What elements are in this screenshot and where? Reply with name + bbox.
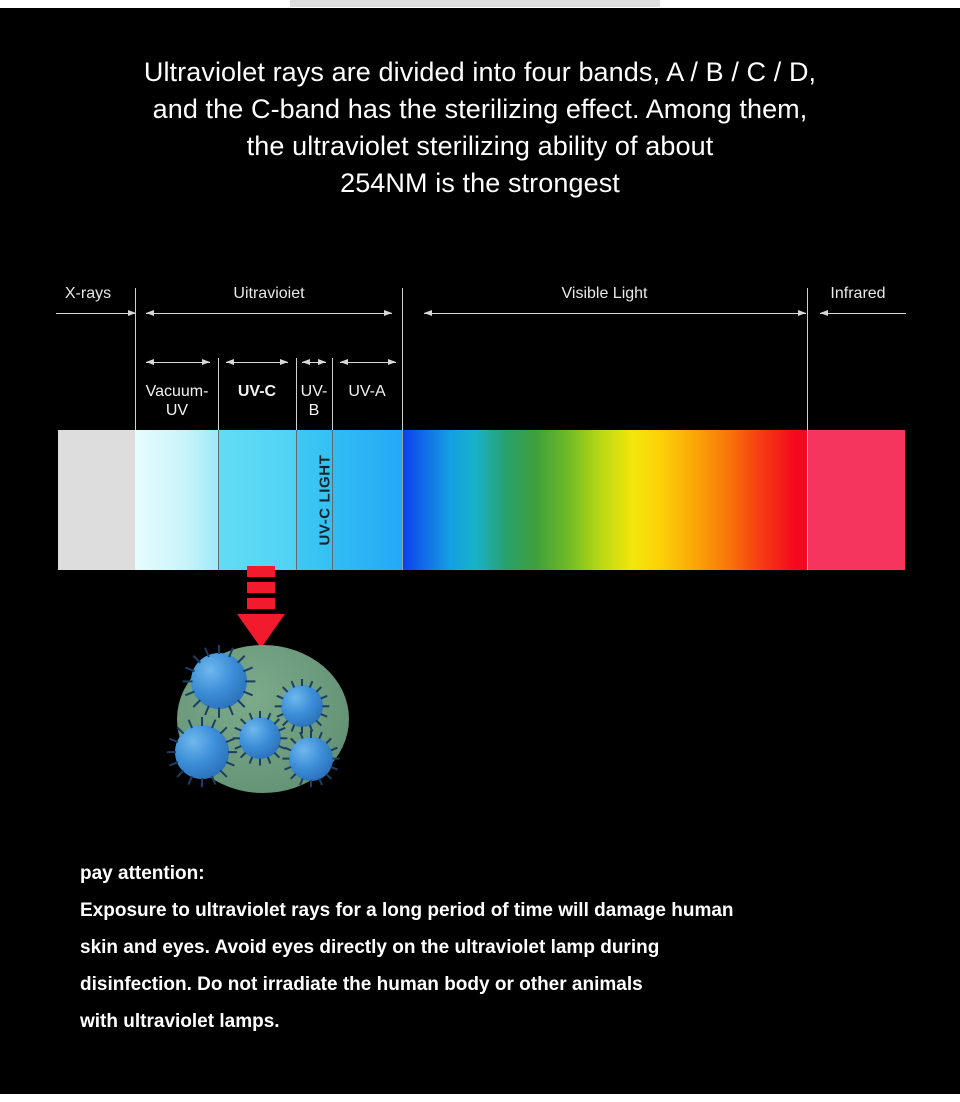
virus-spike-icon [318,732,323,740]
virus-spike-icon [267,712,272,719]
measure-arrow-uvb [302,362,326,363]
band-label-vacuum-uv-line1: Vacuum- [146,383,209,400]
arrow-head-left-icon [146,310,154,316]
virus-spike-icon [226,738,235,743]
virus-spike-icon [330,747,338,752]
caution-note: pay attention: Exposure to ultraviolet r… [80,855,920,1040]
virus-spike-icon [320,713,327,718]
virus-spike-icon [169,738,178,743]
virus-spike-icon [299,778,304,786]
caution-line-1: pay attention: [80,855,920,892]
arrow-head-left-icon [146,359,154,365]
arrow-segment-2 [247,582,275,593]
page-title: Ultraviolet rays are divided into four b… [0,54,960,202]
virus-spike-icon [211,719,216,728]
virus-spike-icon [310,780,312,787]
measure-arrow-uvc [226,362,288,363]
virus-spike-icon [301,679,303,686]
measure-arrow-visible-light [424,313,806,314]
arrow-head-right-icon [388,359,396,365]
virus-spike-icon [332,758,339,760]
arrow-head-left-icon [424,310,432,316]
virus-particle [281,685,323,727]
virus-spike-icon [228,751,237,753]
band-label-uvc: UV-C [218,382,296,401]
virus-spike-icon [176,726,184,734]
virus-spike-icon [240,752,246,758]
virus-spike-icon [291,680,296,687]
virus-spike-icon [243,666,253,671]
band-label-vacuum-uv: Vacuum- UV [136,382,218,420]
measure-arrow-infrared [820,313,906,314]
virus-spike-icon [309,680,314,687]
virus-spike-icon [290,738,297,745]
virus-spike-icon [249,756,254,763]
virus-spike-icon [218,645,220,655]
virus-spike-icon [201,717,203,726]
caution-line-5: with ultraviolet lamps. [80,1003,920,1040]
virus-spike-icon [243,690,253,695]
virus-spike-icon [204,705,209,715]
virus-spike-icon [226,761,235,766]
caution-line-2: Exposure to ultraviolet rays for a long … [80,892,920,929]
virus-spike-icon [290,773,297,780]
virus-spike-icon [282,720,288,726]
divider-uv-visible [402,288,403,430]
virus-spike-icon [220,726,228,734]
virus-spike-icon [188,719,193,728]
virus-spike-icon [280,737,287,739]
virus-spike-icon [282,758,289,760]
band-label-uvb-line1: UV- [301,383,328,400]
band-label-uva: UV-A [332,382,402,401]
virus-spike-icon [320,695,327,700]
range-label-visible-light: Visible Light [402,285,807,303]
virus-spike-icon [291,724,296,731]
arrow-head-left-icon [340,359,348,365]
virus-spike-icon [284,766,292,771]
virus-spike-icon [276,695,283,700]
virus-spike-icon [322,705,329,707]
virus-spike-icon [316,720,322,726]
measure-arrow-ultraviolet [146,313,392,314]
virus-particle [175,725,229,779]
virus-spike-icon [234,727,241,732]
germ-petri-dish-illustration [177,645,349,793]
arrow-head-left-icon [302,359,310,365]
arrow-head-right-icon [798,310,806,316]
virus-spike-icon [325,738,332,745]
virus-spike-icon [169,761,178,766]
virus-spike-icon [330,766,338,771]
virus-spike-icon [259,711,261,718]
arrow-segment-3 [247,598,275,609]
caution-line-3: skin and eyes. Avoid eyes directly on th… [80,929,920,966]
virus-spike-icon [267,756,272,763]
virus-spike-icon [211,776,216,785]
spectrum-segment-visible-light [402,430,807,570]
measure-arrow-xrays [56,313,136,314]
uvc-beam-arrow-icon [241,566,293,648]
virus-spike-icon [176,770,184,778]
uvc-light-caption-text: UV-C LIGHT [317,455,334,546]
virus-spike-icon [167,751,176,753]
range-label-xrays: X-rays [40,285,136,303]
spectrum-diagram: X-rays Uitravioiet Visible Light Infrare… [0,270,960,580]
virus-spike-icon [318,778,323,786]
arrow-head-left-icon [226,359,234,365]
title-line-2: and the C-band has the sterilizing effec… [0,91,960,128]
caution-line-4: disinfection. Do not irradiate the human… [80,966,920,1003]
arrow-head-right-icon [384,310,392,316]
title-line-3: the ultraviolet sterilizing ability of a… [0,128,960,165]
spectrum-segment-xrays [58,430,135,570]
virus-spike-icon [228,705,233,715]
spectrum-segment-vacuum-uv [135,430,218,570]
virus-spike-icon [274,752,280,758]
virus-spike-icon [325,773,332,780]
virus-spike-icon [185,690,195,695]
virus-spike-icon [276,713,283,718]
virus-spike-icon [299,732,304,740]
arrow-head-right-icon [202,359,210,365]
virus-particle [191,653,247,709]
virus-spike-icon [218,708,220,718]
arrow-head-left-icon [820,310,828,316]
virus-spike-icon [278,727,285,732]
band-label-vacuum-uv-line2: UV [166,402,188,419]
top-edge-strip-segment [290,0,660,7]
virus-spike-icon [246,680,256,682]
arrow-head-down-icon [237,614,285,648]
spectrum-segment-infrared [807,430,905,570]
range-label-infrared: Infrared [809,285,907,303]
virus-spike-icon [316,686,322,692]
virus-spike-icon [183,680,193,682]
virus-spike-icon [237,699,245,707]
virus-spike-icon [204,647,209,657]
virus-spike-icon [275,705,282,707]
virus-spike-icon [193,699,201,707]
title-line-4: 254NM is the strongest [0,165,960,202]
bar-divider-visible-infrared [807,430,808,570]
measure-arrow-vacuum-uv [146,362,210,363]
spectrum-segment-uvc [218,430,296,570]
arrow-head-right-icon [280,359,288,365]
virus-spike-icon [240,718,246,724]
arrow-segment-1 [247,566,275,577]
virus-spike-icon [259,758,261,765]
title-line-1: Ultraviolet rays are divided into four b… [0,54,960,91]
virus-spike-icon [228,647,233,657]
virus-spike-icon [188,776,193,785]
virus-particle [239,717,281,759]
virus-spike-icon [185,666,195,671]
band-label-uvb: UV- B [296,382,332,420]
arrow-head-right-icon [318,359,326,365]
top-edge-strip [0,0,960,8]
virus-spike-icon [193,655,201,663]
virus-particle [289,737,333,781]
virus-spike-icon [249,712,254,719]
spectrum-color-bar: UV-C LIGHT [58,430,905,570]
virus-spike-icon [220,770,228,778]
range-label-ultraviolet: Uitravioiet [136,285,402,303]
virus-spike-icon [274,718,280,724]
measure-arrow-uva [340,362,396,363]
uv-spectrum-infographic: Ultraviolet rays are divided into four b… [0,0,960,1102]
uvc-light-caption: UV-C LIGHT [286,430,364,570]
band-label-uvb-line2: B [309,402,320,419]
virus-spike-icon [234,745,241,750]
virus-spike-icon [282,686,288,692]
virus-spike-icon [237,655,245,663]
virus-spike-icon [201,778,203,787]
bottom-edge-strip [0,1094,960,1102]
virus-spike-icon [284,747,292,752]
bar-divider-uva-visible [402,430,403,570]
virus-spike-icon [310,730,312,737]
divider-visible-infrared [807,288,808,430]
bar-divider-uvc-left [218,430,219,570]
